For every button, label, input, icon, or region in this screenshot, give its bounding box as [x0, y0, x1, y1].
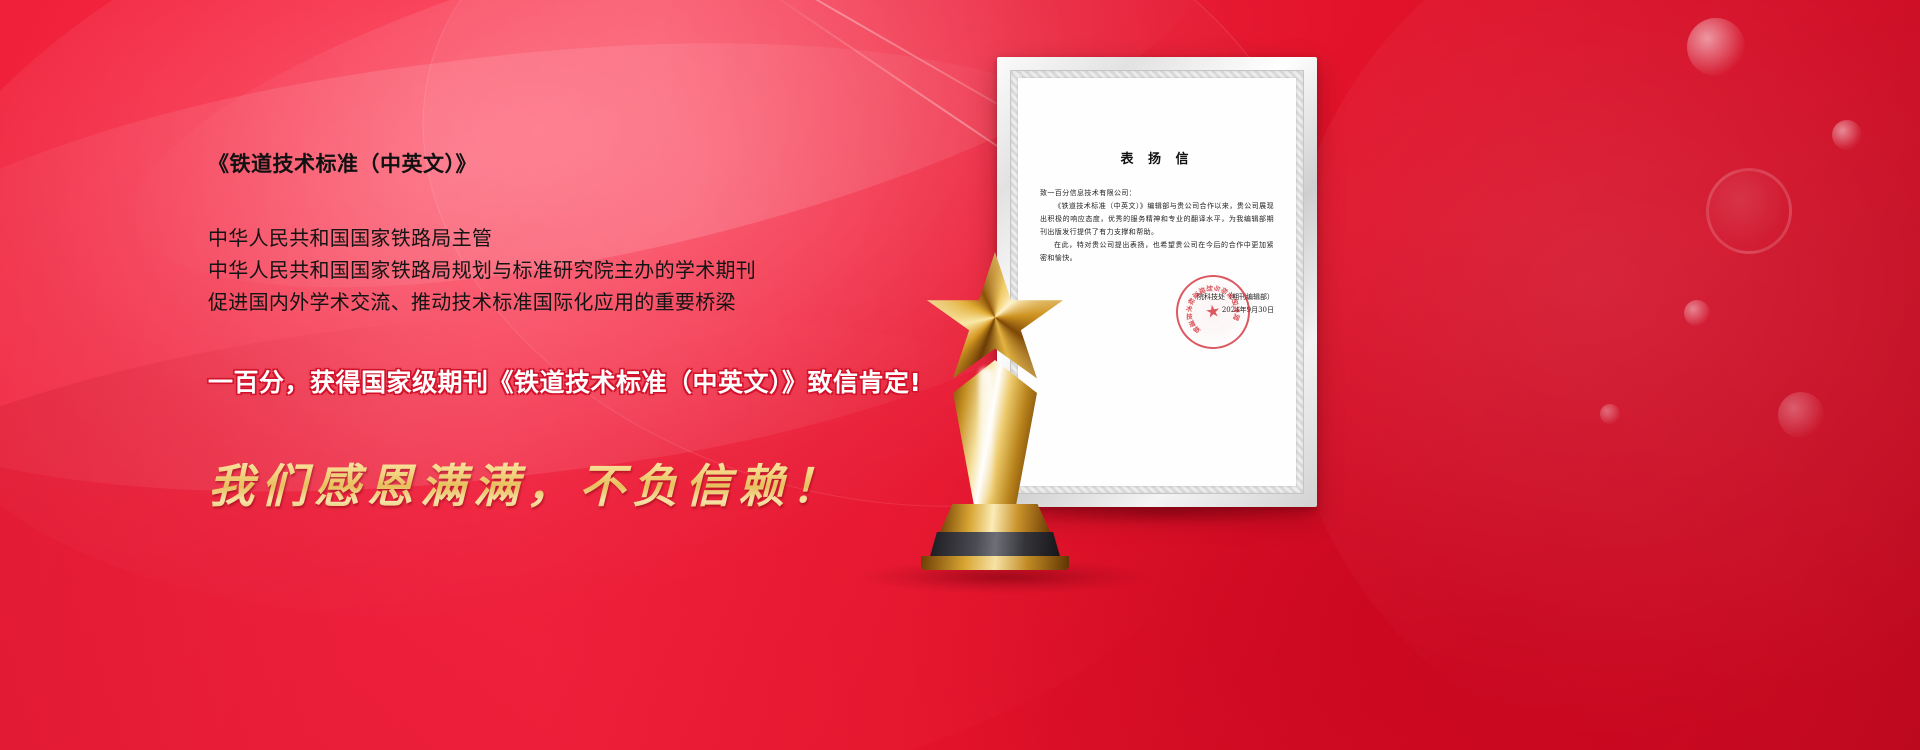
- bokeh-circle-1: [1687, 18, 1745, 76]
- gratitude-slogan: 我们感恩满满，不负信赖！: [208, 450, 1008, 516]
- journal-description-list: 中华人民共和国国家铁路局主管 中华人民共和国国家铁路局规划与标准研究院主办的学术…: [208, 222, 1008, 318]
- journal-description-line: 中华人民共和国国家铁路局规划与标准研究院主办的学术期刊: [208, 254, 1008, 286]
- bokeh-circle-4: [1778, 392, 1824, 438]
- bokeh-ring: [1706, 168, 1792, 254]
- text-content-block: 《铁道技术标准（中英文）》 中华人民共和国国家铁路局主管 中华人民共和国国家铁路…: [208, 148, 1008, 516]
- trophy-pillar-gloss: [979, 368, 993, 500]
- award-banner: 《铁道技术标准（中英文）》 中华人民共和国国家铁路局主管 中华人民共和国国家铁路…: [0, 0, 1920, 750]
- journal-title: 《铁道技术标准（中英文）》: [208, 148, 1008, 178]
- letter-title: 表 扬 信: [1040, 148, 1274, 167]
- seal-ring-text: 铁道技术标准规划与标准研究院: [1173, 272, 1253, 352]
- bokeh-circle-3: [1684, 300, 1710, 326]
- bokeh-circle-5: [1600, 404, 1620, 424]
- background-glow-right: [1280, 0, 1920, 750]
- journal-description-line: 促进国内外学术交流、推动技术标准国际化应用的重要桥梁: [208, 286, 1008, 318]
- highlight-headline: 一百分，获得国家级期刊《铁道技术标准（中英文）》致信肯定!: [208, 364, 1008, 402]
- journal-description-line: 中华人民共和国国家铁路局主管: [208, 222, 1008, 254]
- bokeh-circle-2: [1832, 120, 1862, 150]
- letter-paragraph: 《铁道技术标准（中英文）》编辑部与贵公司合作以来，贵公司展现出积极的响应态度，优…: [1040, 200, 1274, 239]
- trophy-base-top: [939, 504, 1051, 534]
- trophy-base-bottom: [921, 556, 1069, 570]
- letter-salutation: 致一百分信息技术有限公司：: [1040, 187, 1274, 200]
- red-official-seal: ★ 铁道技术标准规划与标准研究院: [1171, 270, 1256, 355]
- gold-star-trophy-icon: [905, 252, 1085, 570]
